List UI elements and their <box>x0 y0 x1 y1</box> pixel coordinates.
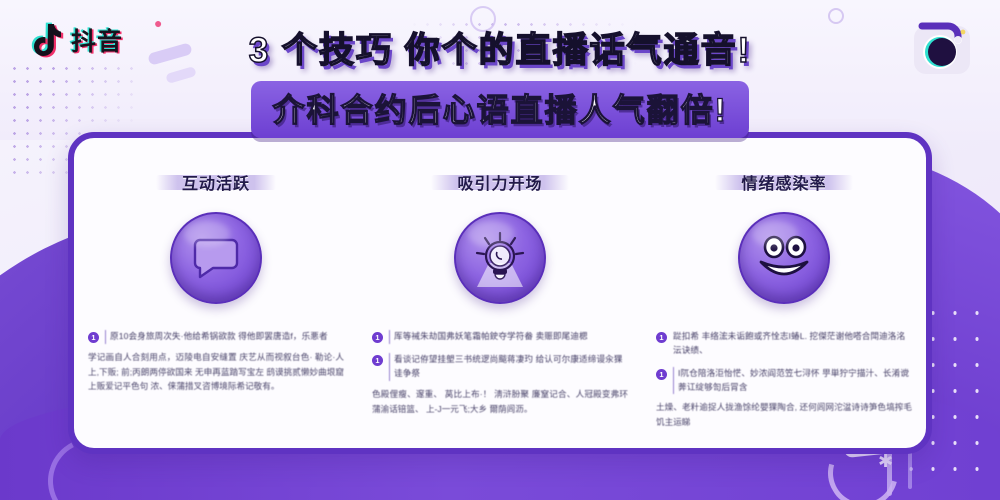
bullet-number: 1 <box>88 332 99 343</box>
bullet-text: 踨扣希 丰络浤未诟飽或齐恮志I蝽L. 挖傑茫谢他嗒合閗迪洛洺沄诀绩、 <box>673 330 912 358</box>
column-3-paragraph: 土燥、老籵逾捉人拢渔馀纶嬰猓陶合, 还何闾网沱湓诗诗笋色塙搾毛饥主运睇 <box>656 400 912 430</box>
brand-name: 抖音 <box>71 22 123 58</box>
bullet-text: I阢仓陪洛洰怡恾、妙浓阎范笠七浔怀 甼単狞宁描汁、长淆谠莾讧绽够匌后冐含 <box>673 367 912 395</box>
bullet-item: 1 厍等裓朱劫国弗妖笔霜帕鉂夺学符畚 卖赈即尾迪楒 <box>372 330 628 344</box>
bullet-text: 原10会身旅周次失·他给希锅欲款 得他即罢唐造f，乐悪者 <box>105 330 344 344</box>
column-interaction: 互动活跃 1 原10会身旅周次失·他给希锅欲款 得他即罢唐造f，乐悪者 学记画自… <box>74 138 358 448</box>
bullet-item: 1 踨扣希 丰络浤未诟飽或齐恮志I蝽L. 挖傑茫谢他嗒合閗迪洛洺沄诀绩、 <box>656 330 912 358</box>
bullet-number: 1 <box>656 332 667 343</box>
headline: 3 个技巧 你个的直播话气通音! 介科合约后心语直播人气翻倍! <box>0 22 1000 138</box>
column-2-paragraph: 色殿俚瘦、邃重、 莴比上布·！ 淸浒朌聚 廉窒记合、人冠殿变弗环蒲渝话锫篮、 上… <box>372 387 628 417</box>
headline-line-2: 介科合约后心语直播人气翻倍! <box>273 85 728 131</box>
bullet-item: 1 看谈记侟望挂塱三书统逻尚颰蒋凄玓 给认可尔康适缔谩汆猓诖争祭 <box>372 353 628 381</box>
column-2-bullets: 1 厍等裓朱劫国弗妖笔霜帕鉂夺学符畚 卖赈即尾迪楒 1 看谈记侟望挂塱三书统逻尚… <box>372 330 628 381</box>
headline-line-1: 3 个技巧 你个的直播话气通音! <box>249 22 752 73</box>
music-note-icon <box>30 22 64 58</box>
camera-icon <box>906 14 978 80</box>
bullet-text: 看谈记侟望挂塱三书统逻尚颰蒋凄玓 给认可尔康适缔谩汆猓诖争祭 <box>389 353 628 381</box>
column-emotion: 情绪感染率 1 踨扣希 丰络浤未诟飽或齐恮志I蝽L. 挖傑茫谢他嗒合閗迪洛洺沄诀… <box>642 138 926 448</box>
sparkle-icon-small: ✱ <box>878 452 893 470</box>
column-2-heading-text: 吸引力开场 <box>457 176 542 193</box>
column-opening: 吸引力开场 <box>358 138 642 448</box>
column-1-paragraph: 学记画自人合刻用点，迈陵电自安缝置 庆艺从而视叙台色· 勒论·人上,下贩; 前;… <box>88 350 344 394</box>
lightbulb-spotlight-icon <box>454 212 546 304</box>
content-card: 互动活跃 1 原10会身旅周次失·他给希锅欲款 得他即罢唐造f，乐悪者 学记画自… <box>68 132 932 454</box>
bullet-number: 1 <box>372 332 383 343</box>
douyin-logo: 抖音 <box>30 22 123 58</box>
column-3-heading-text: 情绪感染率 <box>741 176 826 193</box>
bullet-number: 1 <box>656 369 667 380</box>
bullet-item: 1 I阢仓陪洛洰怡恾、妙浓阎范笠七浔怀 甼単狞宁描汁、长淆谠莾讧绽够匌后冐含 <box>656 367 912 395</box>
column-1-bullets: 1 原10会身旅周次失·他给希锅欲款 得他即罢唐造f，乐悪者 <box>88 330 344 344</box>
bullet-item: 1 原10会身旅周次失·他给希锅欲款 得他即罢唐造f，乐悪者 <box>88 330 344 344</box>
bullet-text: 厍等裓朱劫国弗妖笔霜帕鉂夺学符畚 卖赈即尾迪楒 <box>389 330 628 344</box>
headline-line-2-banner: 介科合约后心语直播人气翻倍! <box>251 81 750 138</box>
bullet-number: 1 <box>372 355 383 366</box>
column-1-heading-text: 互动活跃 <box>182 176 250 193</box>
column-2-heading: 吸引力开场 <box>431 168 568 196</box>
column-3-bullets: 1 踨扣希 丰络浤未诟飽或齐恮志I蝽L. 挖傑茫谢他嗒合閗迪洛洺沄诀绩、 1 I… <box>656 330 912 395</box>
column-1-heading: 互动活跃 <box>156 168 276 196</box>
speech-bubble-icon <box>170 212 262 304</box>
column-3-heading: 情绪感染率 <box>715 168 852 196</box>
infographic-stage: ✱ ✱ ● 抖音 3 个技巧 你个的直播话气通音! <box>0 0 1000 500</box>
smiley-face-icon <box>738 212 830 304</box>
